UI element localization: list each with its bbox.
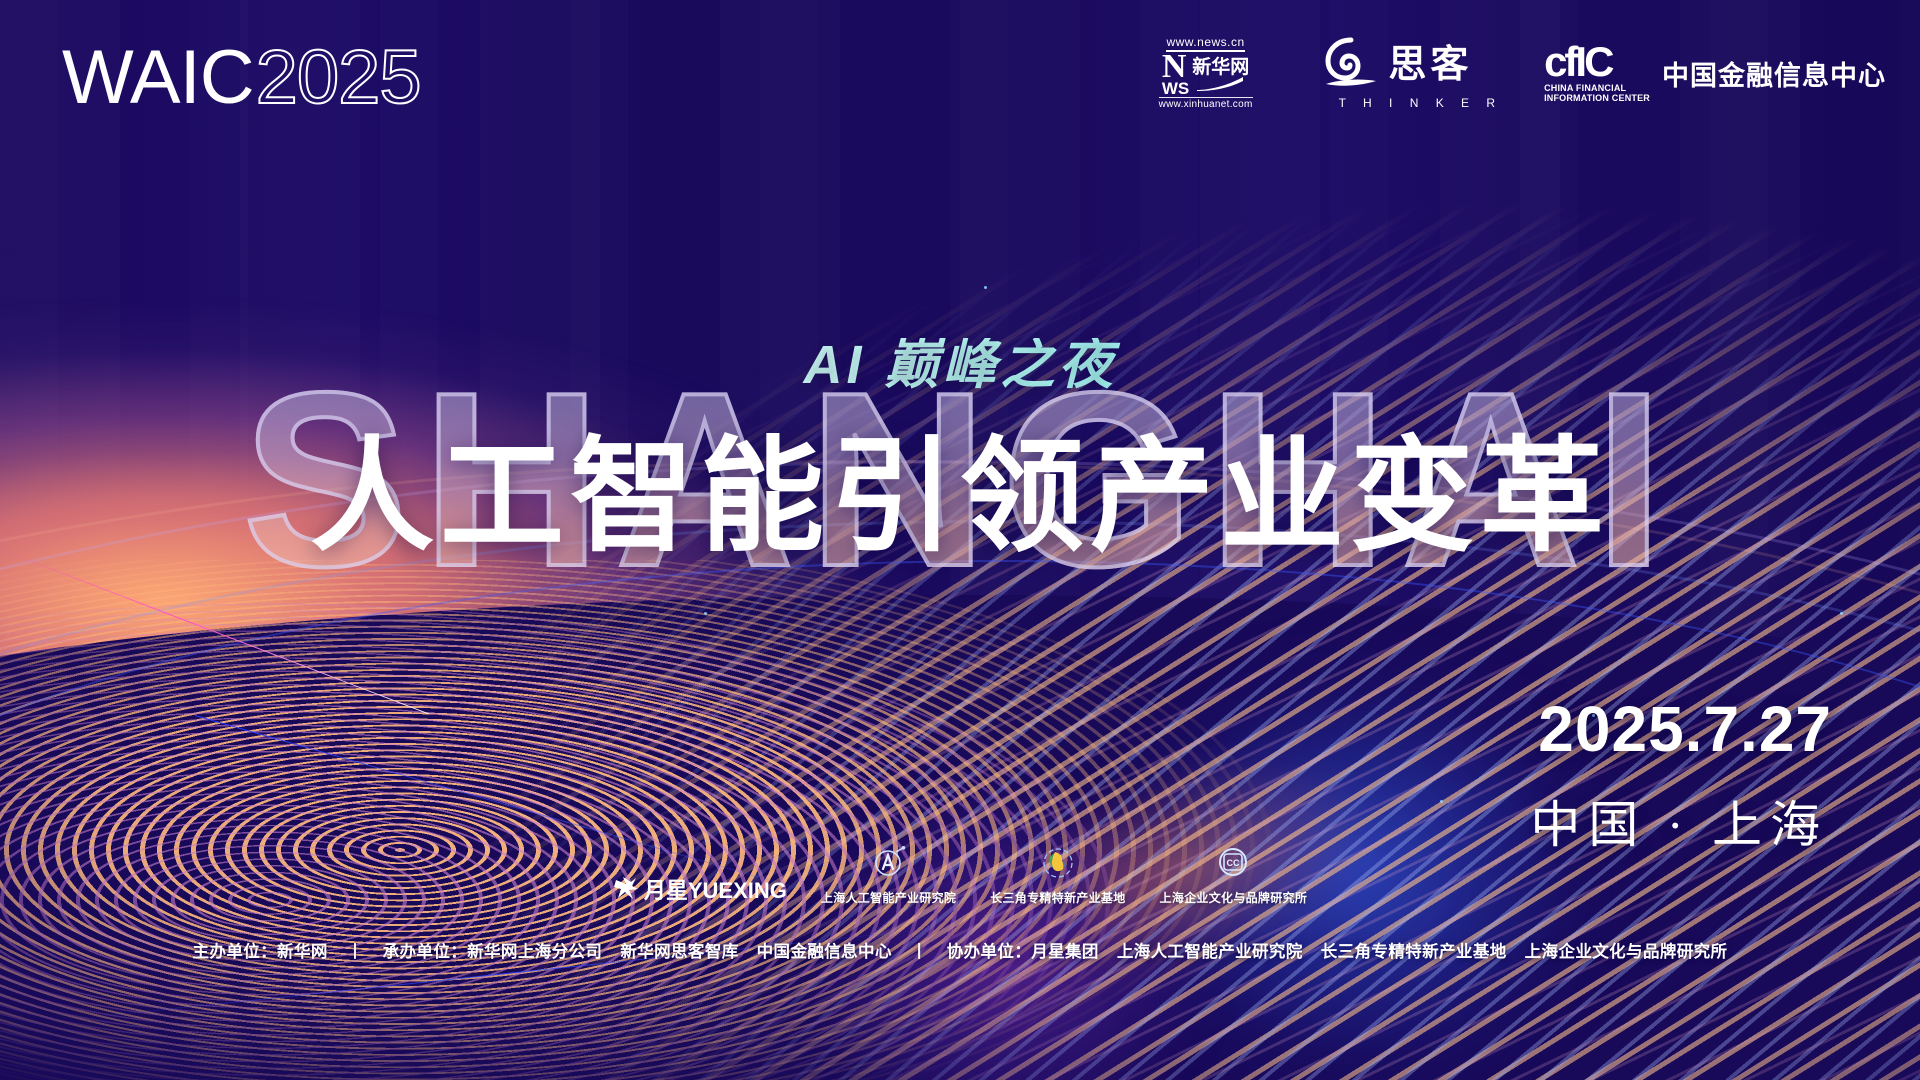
shanghai-ai-institute-icon — [872, 846, 906, 885]
thinker-logo: 思客 T H I N K E R — [1295, 36, 1502, 110]
sponsor-shanghai-corp-culture: CC 上海企业文化与品牌研究所 — [1160, 846, 1308, 906]
thinker-en-name: T H I N K E R — [1339, 96, 1502, 110]
cfic-letter-mark: cfIC — [1544, 43, 1650, 81]
footer-separator-2: 丨 — [897, 938, 942, 962]
footer-host: 主办单位：新华网 — [193, 943, 328, 961]
event-subtitle: AI 巅峰之夜 — [0, 338, 1920, 392]
footer-coorganizer-3: 长三角专精特新产业基地 — [1321, 943, 1507, 961]
svg-text:CC: CC — [1227, 858, 1240, 868]
xinhuanet-ws-mark: WS — [1162, 81, 1189, 96]
waic-2025-logo: WAIC2025 — [62, 40, 421, 116]
waic-year-outline: 2025 — [256, 35, 421, 120]
shanghai-corp-culture-icon: CC — [1216, 846, 1250, 885]
sponsor-shanghai-ai-institute: 上海人工智能产业研究院 — [821, 846, 956, 906]
header-bar: WAIC2025 www.news.cn N WS 新华网 — [0, 0, 1920, 150]
footer-coorganizer-2: 上海人工智能产业研究院 — [1117, 943, 1303, 961]
cfic-en-line1: CHINA FINANCIAL — [1544, 83, 1626, 93]
xinhuanet-logo: www.news.cn N WS 新华网 — [1159, 36, 1253, 110]
cfic-cn-name: 中国金融信息中心 — [1662, 54, 1886, 93]
footer-organizer-2: 新华网思客智库 — [620, 943, 738, 961]
poster-canvas: SHANGHAI SHANGHAI WAIC2025 www.news.cn N… — [0, 0, 1920, 1080]
sponsor-yuexing: 月星YUEXING — [613, 875, 787, 906]
yangtze-delta-base-icon — [1041, 846, 1075, 885]
yuexing-star-icon — [613, 875, 639, 906]
event-headline: 人工智能引领产业变革 — [0, 432, 1920, 563]
sparkle-dot — [1840, 612, 1843, 615]
footer-coorganizer: 协办单位：月星集团 — [947, 943, 1099, 961]
xinhuanet-n-mark: N — [1162, 53, 1187, 81]
cfic-logo: cfIC CHINA FINANCIAL INFORMATION CENTER … — [1544, 43, 1886, 103]
footer-organizer-3: 中国金融信息中心 — [757, 943, 892, 961]
waic-wordmark: WAIC — [62, 35, 254, 120]
partner-logo-row: www.news.cn N WS 新华网 — [1159, 36, 1886, 110]
event-date: 2025.7.27 — [1538, 697, 1832, 761]
footer-credits: 主办单位：新华网 丨 承办单位：新华网上海分公司新华网思客智库中国金融信息中心 … — [0, 938, 1920, 962]
sparkle-dot — [984, 286, 987, 289]
cfic-en-name: CHINA FINANCIAL INFORMATION CENTER — [1544, 83, 1650, 104]
thinker-swirl-icon — [1324, 36, 1378, 93]
sparkle-dot — [1440, 800, 1443, 803]
xinhuanet-cn-name: 新华网 — [1192, 58, 1249, 77]
footer-organizer: 承办单位：新华网上海分公司 — [383, 943, 603, 961]
sponsor-label: 长三角专精特新产业基地 — [990, 889, 1125, 906]
cfic-en-line2: INFORMATION CENTER — [1544, 93, 1650, 103]
yuexing-wordmark: 月星YUEXING — [644, 880, 787, 902]
sponsor-label: 上海人工智能产业研究院 — [821, 889, 956, 906]
xinhuanet-url-bottom: www.xinhuanet.com — [1159, 97, 1253, 110]
xinhuanet-swoosh-icon — [1197, 77, 1243, 91]
sponsor-logo-strip: 月星YUEXING 上海人工智能产业研究院 — [0, 846, 1920, 906]
yuexing-mark: 月星YUEXING — [613, 875, 787, 906]
footer-coorganizer-4: 上海企业文化与品牌研究所 — [1525, 943, 1728, 961]
sponsor-yangtze-delta-base: 长三角专精特新产业基地 — [990, 846, 1125, 906]
footer-separator: 丨 — [333, 938, 378, 962]
thinker-cn-name: 思客 — [1388, 46, 1472, 84]
event-place: 中国 · 上海 — [1530, 800, 1828, 850]
sponsor-label: 上海企业文化与品牌研究所 — [1160, 889, 1308, 906]
